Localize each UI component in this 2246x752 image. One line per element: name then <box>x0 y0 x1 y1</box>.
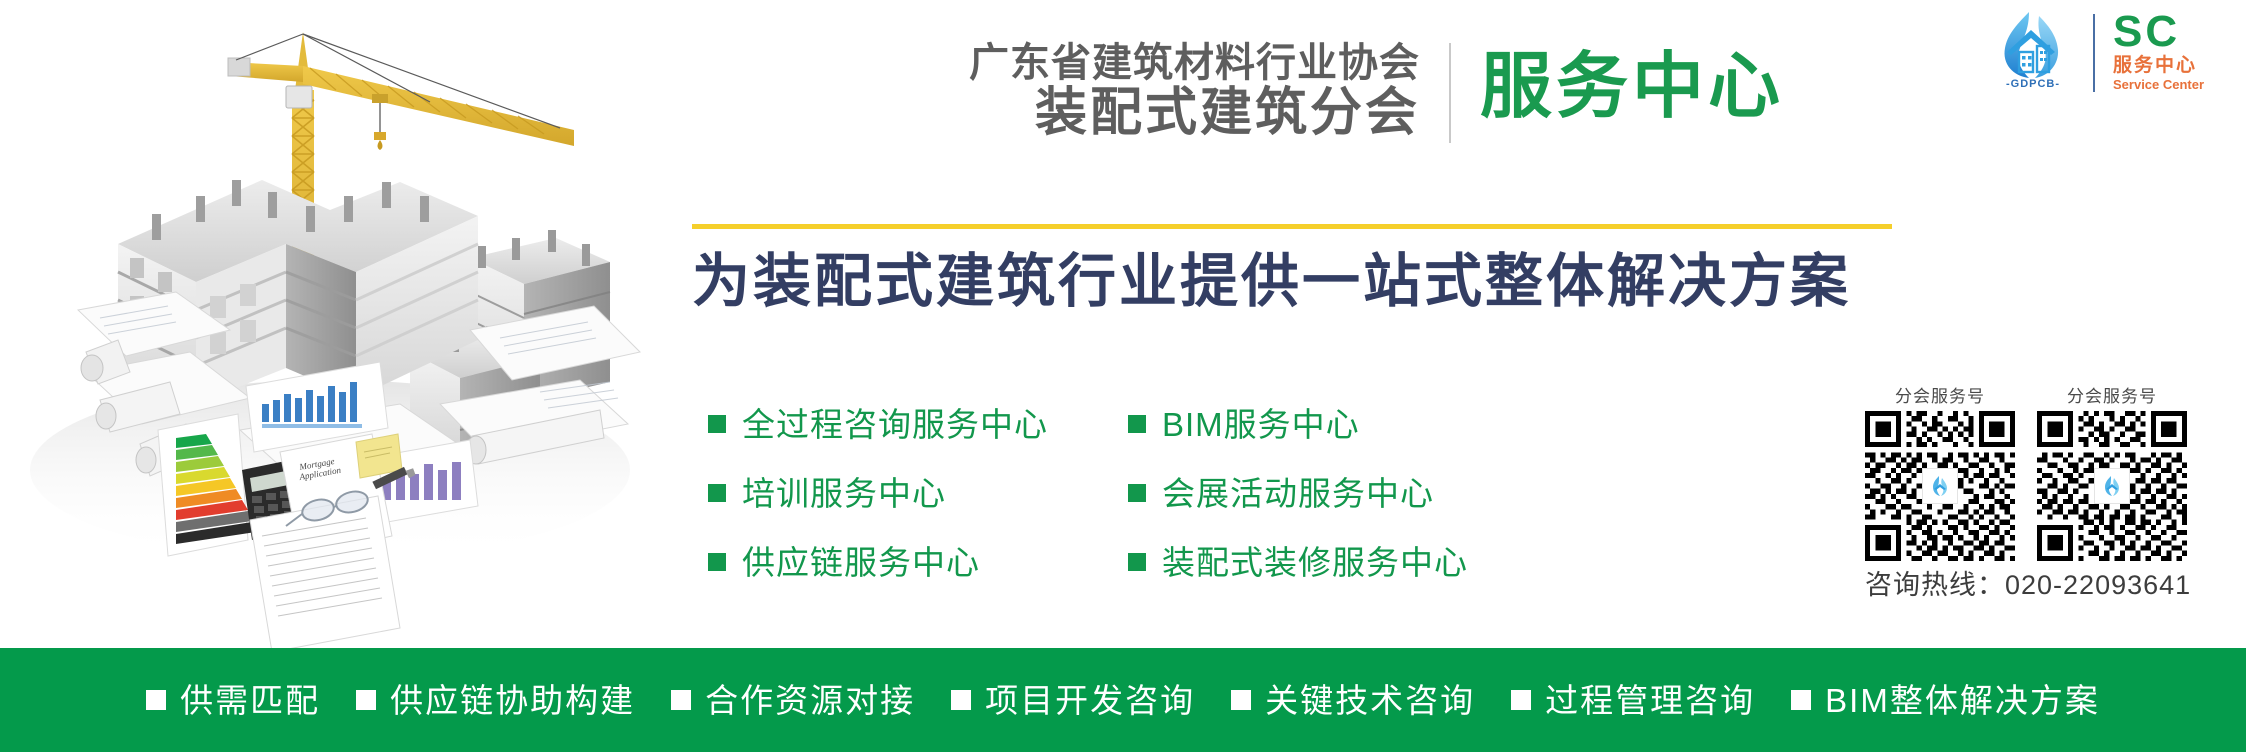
footer-item[interactable]: 关键技术咨询 <box>1231 684 1475 717</box>
service-item-label: 培训服务中心 <box>742 477 946 510</box>
footer-item[interactable]: 供应链协助构建 <box>356 684 635 717</box>
banner-content: 广东省建筑材料行业协会 装配式建筑分会 服务中心 <box>660 0 2246 648</box>
footer-item[interactable]: 供需匹配 <box>146 684 320 717</box>
logo-divider <box>2093 14 2095 92</box>
service-item[interactable]: BIM服务中心 <box>1128 400 1548 448</box>
square-bullet-icon <box>1128 415 1146 433</box>
association-title: 广东省建筑材料行业协会 装配式建筑分会 <box>660 42 1420 141</box>
slogan-text: 为装配式建筑行业提供一站式整体解决方案 <box>692 244 1851 319</box>
logo-caption-gdpcb: -GDPCB- <box>1985 78 2081 90</box>
promotional-banner: Mortgage Application <box>0 0 2246 752</box>
service-item[interactable]: 会展活动服务中心 <box>1128 469 1548 517</box>
gdpcb-sc-logo: -GDPCB- SC 服务中心 Service Center <box>1985 8 2235 98</box>
qr-cell[interactable]: 分会服务号 <box>1865 388 2015 561</box>
square-bullet-icon <box>1791 690 1811 710</box>
square-bullet-icon <box>708 415 726 433</box>
footer-item-label: 过程管理咨询 <box>1545 684 1755 717</box>
footer-item-label: 供应链协助构建 <box>390 684 635 717</box>
square-bullet-icon <box>356 690 376 710</box>
qr-center-logo-icon <box>2094 468 2130 504</box>
square-bullet-icon <box>1511 690 1531 710</box>
footer-item[interactable]: 项目开发咨询 <box>951 684 1195 717</box>
qr-center-logo-icon <box>1922 468 1958 504</box>
association-name-line1: 广东省建筑材料行业协会 <box>660 42 1420 85</box>
square-bullet-icon <box>708 553 726 571</box>
service-center-list: 全过程咨询服务中心 培训服务中心 供应链服务中心 BIM服务中心 <box>708 400 1768 586</box>
qr-cell[interactable]: 分会服务号 <box>2037 388 2187 561</box>
footer-item-label: 供需匹配 <box>180 684 320 717</box>
square-bullet-icon <box>708 484 726 502</box>
logo-service-center-en: Service Center <box>2113 78 2204 91</box>
service-column-left: 全过程咨询服务中心 培训服务中心 供应链服务中心 <box>708 400 1128 586</box>
service-center-heading: 服务中心 <box>1480 42 1784 132</box>
service-item[interactable]: 培训服务中心 <box>708 469 1128 517</box>
service-item[interactable]: 供应链服务中心 <box>708 538 1128 586</box>
square-bullet-icon <box>1231 690 1251 710</box>
service-column-right: BIM服务中心 会展活动服务中心 装配式装修服务中心 <box>1128 400 1548 586</box>
logo-sc-initials: SC <box>2113 10 2180 54</box>
footer-item-label: BIM整体解决方案 <box>1825 684 2100 717</box>
qr-code-branch-service-account-2[interactable] <box>2037 411 2187 561</box>
service-item-label: BIM服务中心 <box>1162 408 1360 441</box>
square-bullet-icon <box>1128 553 1146 571</box>
footer-item-label: 项目开发咨询 <box>985 684 1195 717</box>
service-item-label: 全过程咨询服务中心 <box>742 408 1048 441</box>
footer-item-label: 关键技术咨询 <box>1265 684 1475 717</box>
qr-contact-block: 分会服务号 <box>1865 388 2225 601</box>
association-name-line2: 装配式建筑分会 <box>660 85 1420 141</box>
qr-caption: 分会服务号 <box>2037 388 2187 405</box>
square-bullet-icon <box>671 690 691 710</box>
title-vertical-divider <box>1449 43 1451 143</box>
qr-code-branch-service-account-1[interactable] <box>1865 411 2015 561</box>
footer-item[interactable]: BIM整体解决方案 <box>1791 684 2100 717</box>
service-item-label: 装配式装修服务中心 <box>1162 546 1468 579</box>
square-bullet-icon <box>146 690 166 710</box>
square-bullet-icon <box>951 690 971 710</box>
service-item[interactable]: 装配式装修服务中心 <box>1128 538 1548 586</box>
logo-service-center-cn: 服务中心 <box>2113 56 2197 75</box>
hero-construction-image: Mortgage Application <box>0 0 660 648</box>
footer-item[interactable]: 过程管理咨询 <box>1511 684 1755 717</box>
qr-caption: 分会服务号 <box>1865 388 2015 405</box>
service-item-label: 供应链服务中心 <box>742 546 980 579</box>
service-item-label: 会展活动服务中心 <box>1162 477 1434 510</box>
yellow-divider-rule <box>692 224 1892 229</box>
service-item[interactable]: 全过程咨询服务中心 <box>708 400 1128 448</box>
footer-item-label: 合作资源对接 <box>705 684 915 717</box>
square-bullet-icon <box>1128 484 1146 502</box>
footer-services-bar: 供需匹配 供应链协助构建 合作资源对接 项目开发咨询 关键技术咨询 过程管理咨询 <box>0 648 2246 752</box>
footer-item[interactable]: 合作资源对接 <box>671 684 915 717</box>
hotline-text[interactable]: 咨询热线：020-22093641 <box>1865 569 2225 601</box>
